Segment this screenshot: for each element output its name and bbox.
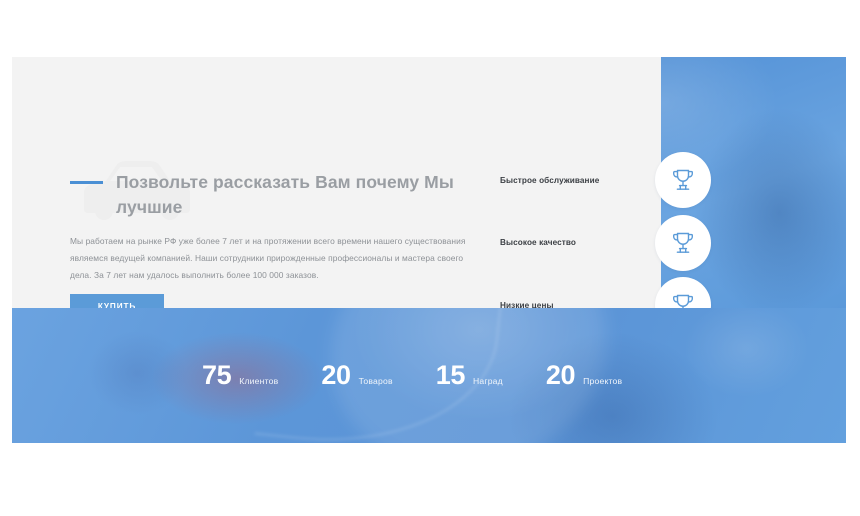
feature-label: Высокое качество [500,238,576,247]
stat-label: Проектов [583,376,622,386]
stat-label: Товаров [359,376,393,386]
trophy-icon [655,215,711,271]
feature-label: Низкие цены [500,301,554,308]
buy-button[interactable]: КУПИТЬ [70,294,164,308]
hero-section: Позвольте рассказать Вам почему Мы лучши… [12,57,846,308]
landing-page: Позвольте рассказать Вам почему Мы лучши… [0,0,860,516]
stat-label: Наград [473,376,503,386]
stats-section: 75 Клиентов 20 Товаров 15 Наград 20 Прое… [12,308,846,443]
hero-description: Мы работаем на рынке РФ уже более 7 лет … [70,233,482,285]
feature-item-low-prices[interactable]: Низкие цены [500,274,705,308]
feature-item-high-quality[interactable]: Высокое качество [500,212,705,275]
trophy-icon [655,277,711,308]
stat-value: 15 [436,362,465,389]
hero-heading: Позвольте рассказать Вам почему Мы лучши… [70,170,470,220]
stat-item-clients: 75 Клиентов [202,362,278,389]
heading-accent-dash [70,181,103,184]
stat-item-awards: 15 Наград [436,362,503,389]
stat-item-projects: 20 Проектов [546,362,622,389]
trophy-icon [655,152,711,208]
stats-list: 75 Клиентов 20 Товаров 15 Наград 20 Прое… [202,308,702,443]
stat-label: Клиентов [239,376,278,386]
stat-value: 20 [546,362,575,389]
feature-list: Быстрое обслуживание Высокое качество [500,149,705,308]
stat-value: 20 [321,362,350,389]
stat-item-products: 20 Товаров [321,362,392,389]
stat-value: 75 [202,362,231,389]
feature-label: Быстрое обслуживание [500,176,599,185]
feature-item-fast-service[interactable]: Быстрое обслуживание [500,149,705,212]
page-title: Позвольте рассказать Вам почему Мы лучши… [116,170,456,220]
